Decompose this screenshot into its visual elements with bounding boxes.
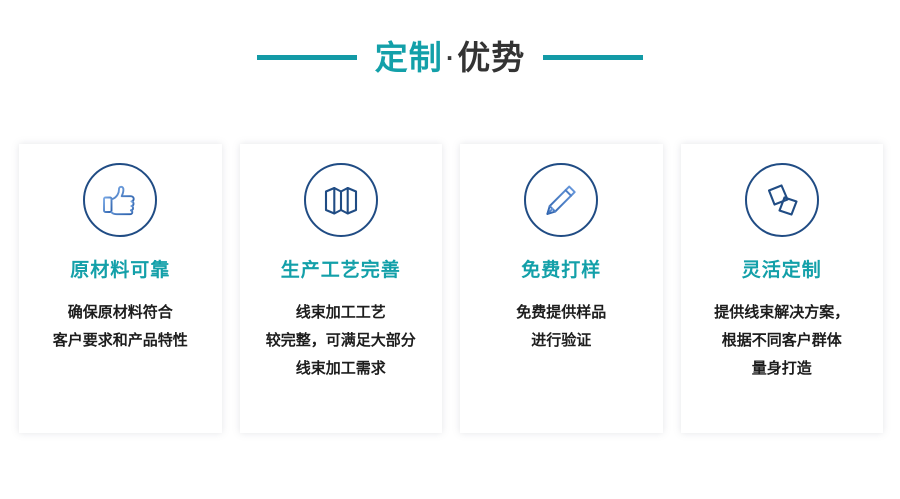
card-body: 确保原材料符合 客户要求和产品特性	[45, 299, 196, 355]
header-rule-left	[257, 55, 357, 60]
card-body: 线束加工工艺 较完整，可满足大部分 线束加工需求	[258, 299, 424, 382]
page-title-separator: ·	[443, 46, 458, 70]
feature-card[interactable]: 原材料可靠 确保原材料符合 客户要求和产品特性	[19, 144, 222, 433]
folded-map-icon	[321, 180, 361, 220]
icon-circle	[524, 163, 598, 237]
feature-card-list: 原材料可靠 确保原材料符合 客户要求和产品特性 生产工艺完善	[19, 144, 883, 433]
icon-circle	[304, 163, 378, 237]
feature-card[interactable]: 灵活定制 提供线束解决方案， 根据不同客户群体 量身打造	[681, 144, 884, 433]
icon-circle	[745, 163, 819, 237]
icon-circle	[83, 163, 157, 237]
feature-card[interactable]: 生产工艺完善 线束加工工艺 较完整，可满足大部分 线束加工需求	[240, 144, 443, 433]
page-title-accent: 定制	[375, 38, 443, 77]
header-rule-right	[543, 55, 643, 60]
promo-section: 定制·优势	[0, 0, 900, 499]
page-title-dark: 优势	[457, 38, 525, 77]
pencil-icon	[541, 180, 581, 220]
card-body: 提供线束解决方案， 根据不同客户群体 量身打造	[706, 299, 857, 382]
card-title: 原材料可靠	[70, 261, 170, 280]
page-title: 定制·优势	[375, 41, 526, 74]
stacked-sheets-icon	[762, 180, 802, 220]
thumbs-up-icon	[100, 180, 140, 220]
card-body: 免费提供样品 进行验证	[508, 299, 614, 355]
card-title: 生产工艺完善	[281, 261, 401, 280]
feature-card[interactable]: 免费打样 免费提供样品 进行验证	[460, 144, 663, 433]
card-title: 免费打样	[521, 261, 601, 280]
card-title: 灵活定制	[742, 261, 822, 280]
section-header: 定制·优势	[0, 26, 900, 88]
